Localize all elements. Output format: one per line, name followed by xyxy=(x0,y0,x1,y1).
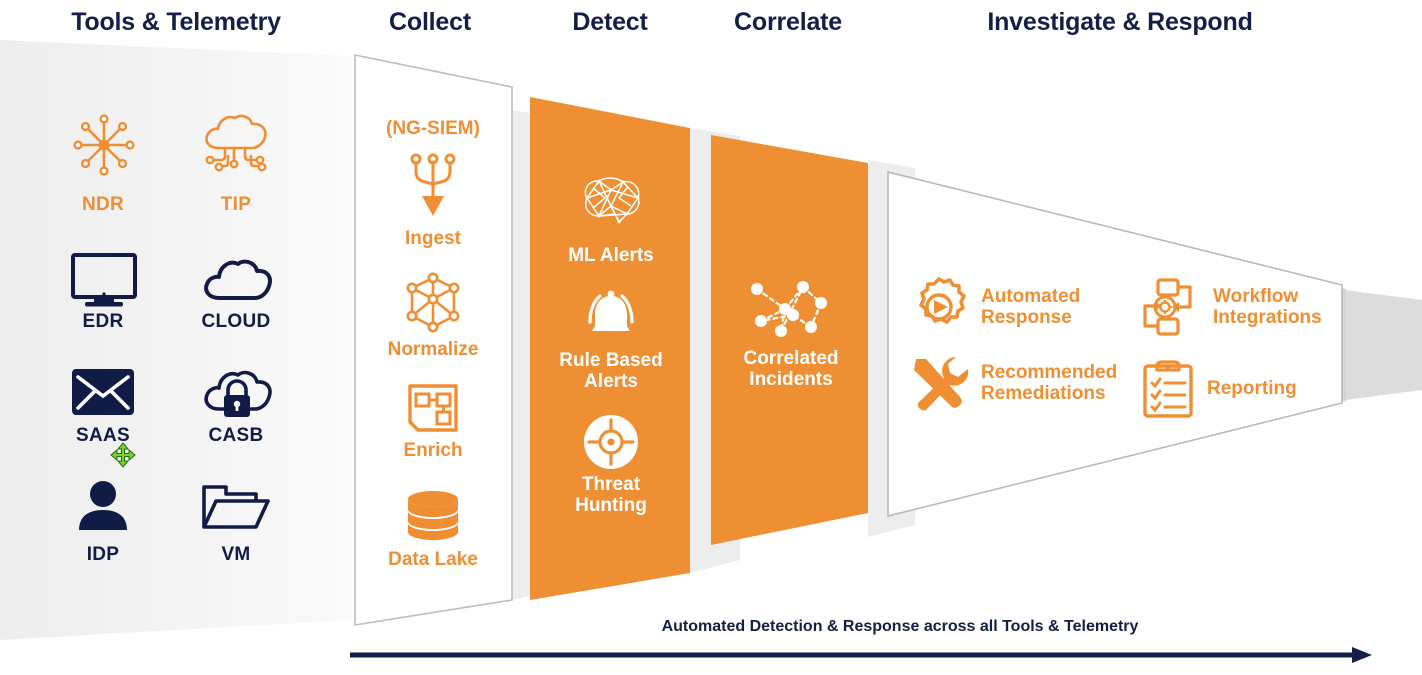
move-cursor xyxy=(110,442,136,468)
folder-icon xyxy=(200,483,272,531)
collect-label-ingest: Ingest xyxy=(378,228,488,249)
collect-label-normalize: Normalize xyxy=(368,339,498,360)
tool-label-ndr: NDR xyxy=(43,194,163,216)
collect-panel-header: (NG-SIEM) xyxy=(373,118,493,139)
detect-label-rule-based-alerts-line2: Alerts xyxy=(541,371,681,392)
correlate-panel xyxy=(711,135,868,545)
outflow-funnel-shape xyxy=(1345,290,1422,400)
cloud-threat-intel-icon xyxy=(200,112,274,178)
investigate-label-workflow-integrations-line2: Integrations xyxy=(1213,307,1322,328)
investigate-item-workflow-integrations: Workflow Integrations xyxy=(1140,276,1322,338)
header-correlate: Correlate xyxy=(708,8,868,37)
investigate-label-reporting: Reporting xyxy=(1207,378,1297,399)
collect-label-data-lake: Data Lake xyxy=(367,549,499,570)
cloud-icon xyxy=(200,256,274,304)
workflow-gear-icon xyxy=(1140,276,1202,338)
detect-label-rule-based-alerts-line1: Rule Based xyxy=(541,350,681,371)
detect-panel xyxy=(530,97,690,600)
header-tools-telemetry: Tools & Telemetry xyxy=(46,8,306,37)
clipboard-checklist-icon xyxy=(1140,358,1196,418)
investigate-label-automated-response: Automated Response xyxy=(981,286,1080,328)
correlate-label-line1: Correlated xyxy=(716,348,866,369)
header-collect: Collect xyxy=(350,8,510,37)
gear-play-icon xyxy=(908,276,970,338)
investigate-label-reporting-line1: Reporting xyxy=(1207,378,1297,399)
investigate-label-recommended-remediations: Recommended Remediations xyxy=(981,362,1117,404)
brain-network-icon xyxy=(575,176,645,232)
tool-label-idp: IDP xyxy=(43,544,163,566)
investigate-label-automated-response-line1: Automated xyxy=(981,286,1080,307)
detect-label-threat-hunting-line2: Hunting xyxy=(541,495,681,516)
investigate-item-recommended-remediations: Recommended Remediations xyxy=(908,355,1117,411)
tool-label-casb: CASB xyxy=(176,425,296,447)
header-investigate-respond: Investigate & Respond xyxy=(930,8,1310,37)
tool-label-edr: EDR xyxy=(43,311,163,333)
investigate-label-automated-response-line2: Response xyxy=(981,307,1080,328)
tool-label-vm: VM xyxy=(176,544,296,566)
tool-label-cloud: CLOUD xyxy=(176,311,296,333)
investigate-label-recommended-remediations-line1: Recommended xyxy=(981,362,1117,383)
enrich-nodes-icon xyxy=(406,382,460,434)
monitor-icon xyxy=(70,253,138,307)
correlate-label-correlated-incidents: Correlated Incidents xyxy=(716,348,866,390)
investigate-label-recommended-remediations-line2: Remediations xyxy=(981,383,1117,404)
footer-caption: Automated Detection & Response across al… xyxy=(480,618,1320,636)
investigate-panel xyxy=(888,172,1342,516)
correlation-graph-icon xyxy=(745,277,835,339)
wrench-screwdriver-icon xyxy=(908,355,970,411)
investigate-item-automated-response: Automated Response xyxy=(908,276,1080,338)
correlate-label-line2: Incidents xyxy=(716,369,866,390)
detect-label-ml-alerts: ML Alerts xyxy=(548,245,674,266)
collect-label-enrich: Enrich xyxy=(378,440,488,461)
investigate-item-reporting: Reporting xyxy=(1140,358,1297,418)
diagram-canvas: Tools & Telemetry Collect Detect Correla… xyxy=(0,0,1422,675)
bell-alert-icon xyxy=(582,288,640,342)
normalize-cube-icon xyxy=(402,272,464,334)
header-detect: Detect xyxy=(530,8,690,37)
ingest-funnel-icon xyxy=(403,150,463,222)
database-icon xyxy=(404,490,462,542)
crosshair-target-icon xyxy=(583,414,639,470)
detect-label-rule-based-alerts: Rule Based Alerts xyxy=(541,350,681,392)
tool-label-tip: TIP xyxy=(176,194,296,216)
network-hub-icon xyxy=(71,112,137,178)
cloud-lock-icon xyxy=(200,365,274,421)
tool-label-saas: SAAS xyxy=(43,425,163,447)
investigate-label-workflow-integrations: Workflow Integrations xyxy=(1213,286,1322,328)
investigate-label-workflow-integrations-line1: Workflow xyxy=(1213,286,1322,307)
user-icon xyxy=(76,480,130,532)
detect-label-threat-hunting: Threat Hunting xyxy=(541,474,681,516)
envelope-icon xyxy=(71,368,135,416)
detect-label-threat-hunting-line1: Threat xyxy=(541,474,681,495)
